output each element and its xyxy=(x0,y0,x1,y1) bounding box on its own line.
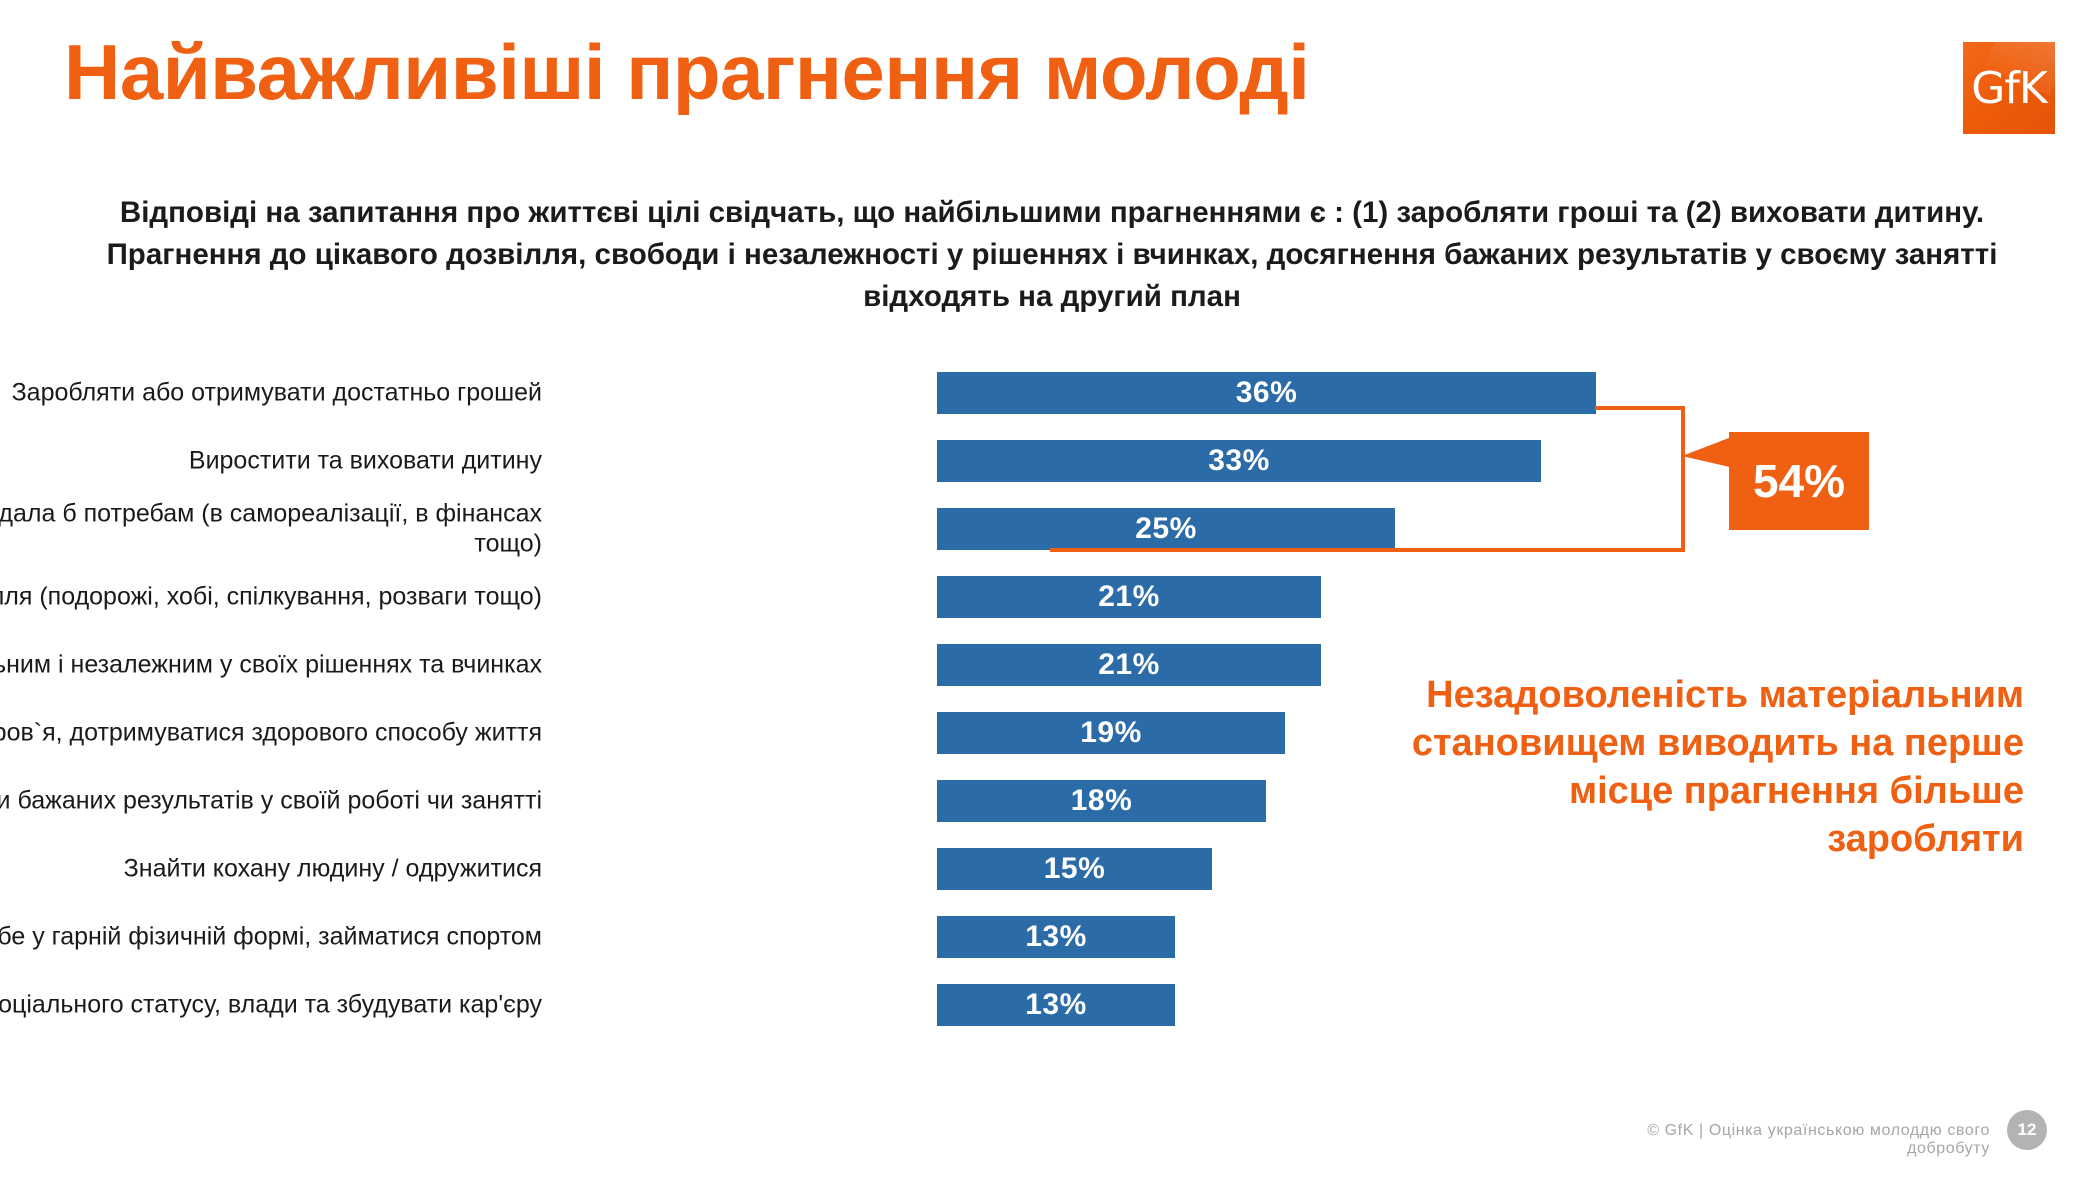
chart-row: Підтримувати себе у гарній фізичній форм… xyxy=(0,916,1700,958)
chart-row-label: Знайти роботу, яка відповідала б потреба… xyxy=(0,500,542,559)
chart-bar-value: 21% xyxy=(1098,648,1160,682)
chart-bar: 36% xyxy=(937,372,1596,414)
chart-bar-value: 36% xyxy=(1236,376,1298,410)
chart-bar-value: 21% xyxy=(1098,580,1160,614)
chart-bar-value: 19% xyxy=(1080,716,1142,750)
chart-bar: 19% xyxy=(937,712,1285,754)
side-note: Незадоволеність матеріальним становищем … xyxy=(1380,672,2024,864)
chart-row-label: Знайти кохану людину / одружитися xyxy=(0,854,542,884)
logo-text: GfK xyxy=(1971,63,2046,114)
chart-bar: 13% xyxy=(937,984,1175,1026)
chart-bar: 25% xyxy=(937,508,1395,550)
callout-arrow-icon xyxy=(1682,432,1734,480)
slide-canvas: GfK Найважливіші прагнення молоді Відпов… xyxy=(0,0,2099,1181)
callout-value: 54% xyxy=(1753,454,1845,508)
page-number-badge: 12 xyxy=(2007,1110,2047,1150)
chart-bar: 21% xyxy=(937,644,1321,686)
chart-bar-value: 13% xyxy=(1025,920,1087,954)
chart-bar: 18% xyxy=(937,780,1266,822)
chart-row: Досягти високого соціального статусу, вл… xyxy=(0,984,1700,1026)
chart-bar-value: 33% xyxy=(1208,444,1270,478)
chart-bar-value: 15% xyxy=(1044,852,1106,886)
chart-bar: 13% xyxy=(937,916,1175,958)
chart-bar: 33% xyxy=(937,440,1541,482)
page-subtitle: Відповіді на запитання про життєві цілі … xyxy=(68,192,2036,318)
gfk-logo: GfK xyxy=(1963,42,2055,134)
chart-bar: 15% xyxy=(937,848,1212,890)
chart-row-label: Досягти високого соціального статусу, вл… xyxy=(0,990,542,1020)
chart-row-label: Заробляти або отримувати достатньо гроше… xyxy=(0,378,542,408)
chart-bar-value: 18% xyxy=(1071,784,1133,818)
bracket-top-segment xyxy=(1595,406,1685,410)
callout-bracket xyxy=(1595,406,1685,552)
chart-row-label: Бути вільним і незалежним у своїх рішенн… xyxy=(0,650,542,680)
callout-badge: 54% xyxy=(1729,432,1869,530)
chart-row-label: Дбати про здоров`я, дотримуватися здоров… xyxy=(0,718,542,748)
chart-row: Виростити та виховати дитину33% xyxy=(0,440,1700,482)
chart-row: Заробляти або отримувати достатньо гроше… xyxy=(0,372,1700,414)
chart-row-label: Цікаве дозвілля (подорожі, хобі, спілкув… xyxy=(0,582,542,612)
bracket-bottom-segment xyxy=(1050,548,1685,552)
footer-copyright: © GfK | Оцінка українською молоддю свого… xyxy=(1560,1122,1990,1158)
page-title: Найважливіші прагнення молоді xyxy=(64,30,1894,114)
chart-bar-value: 25% xyxy=(1135,512,1197,546)
chart-row-label: Досягти бажаних результатів у своїй робо… xyxy=(0,786,542,816)
chart-bar-value: 13% xyxy=(1025,988,1087,1022)
chart-row: Знайти роботу, яка відповідала б потреба… xyxy=(0,508,1700,550)
chart-row-label: Підтримувати себе у гарній фізичній форм… xyxy=(0,922,542,952)
chart-bar: 21% xyxy=(937,576,1321,618)
chart-row: Цікаве дозвілля (подорожі, хобі, спілкув… xyxy=(0,576,1700,618)
chart-row-label: Виростити та виховати дитину xyxy=(0,446,542,476)
